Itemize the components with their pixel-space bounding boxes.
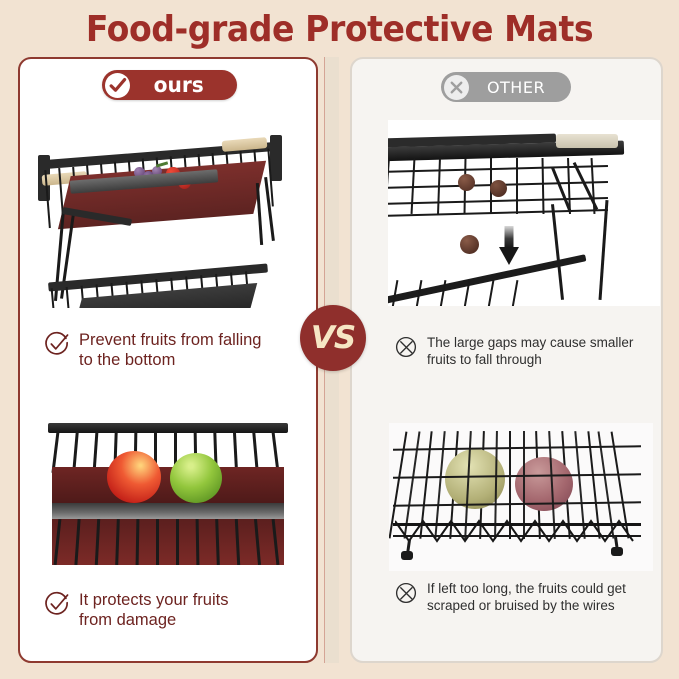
badge-ours-label: ours <box>134 73 235 97</box>
check-circle-icon <box>44 331 70 362</box>
x-circle-icon <box>394 581 418 610</box>
green-apple <box>170 453 222 503</box>
basket-foot <box>611 547 623 556</box>
feature-other-2-text: If left too long, the fruits could get s… <box>427 580 626 615</box>
falling-fruit <box>460 235 479 254</box>
two-tier-basket-with-mat-photo <box>22 113 314 308</box>
x-circle-icon <box>394 335 418 364</box>
feature-ours-1: Prevent fruits from falling to the botto… <box>44 330 294 370</box>
check-circle-icon <box>44 591 70 622</box>
feature-other-1-text: The large gaps may cause smaller fruits … <box>427 334 633 369</box>
feature-ours-2: It protects your fruits from damage <box>44 590 294 630</box>
down-arrow-icon <box>498 226 520 266</box>
basket-without-mat-photo <box>388 120 660 306</box>
x-circle-icon <box>444 75 469 100</box>
small-fruit <box>490 180 507 197</box>
protective-mat <box>52 467 284 503</box>
feature-line: scraped or bruised by the wires <box>427 598 615 613</box>
feature-line: Prevent fruits from falling <box>79 331 261 349</box>
page-title: Food-grade Protective Mats <box>27 9 652 50</box>
feature-other-2: If left too long, the fruits could get s… <box>394 580 646 615</box>
feature-line: If left too long, the fruits could get <box>427 581 626 596</box>
infographic-page: Food-grade Protective Mats <box>0 0 679 679</box>
badge-other-label: OTHER <box>471 78 571 97</box>
small-fruit <box>458 174 475 191</box>
feature-other-1: The large gaps may cause smaller fruits … <box>394 334 646 369</box>
check-circle-icon <box>105 73 130 98</box>
feature-line: to the bottom <box>79 351 175 369</box>
basket-foot <box>401 551 413 560</box>
vs-badge: VS <box>300 305 366 371</box>
apples-on-mat-photo <box>22 415 314 583</box>
feature-line: fruits to fall through <box>427 352 542 367</box>
badge-ours: ours <box>102 70 237 100</box>
feature-line: It protects your fruits <box>79 591 228 609</box>
feature-ours-1-text: Prevent fruits from falling to the botto… <box>79 330 261 370</box>
board <box>556 134 618 148</box>
red-apple <box>107 451 161 503</box>
feature-line: from damage <box>79 611 176 629</box>
feature-ours-2-text: It protects your fruits from damage <box>79 590 228 630</box>
fruit-pressed-on-wires-photo <box>389 423 653 571</box>
feature-line: The large gaps may cause smaller <box>427 335 633 350</box>
badge-other: OTHER <box>441 72 571 102</box>
